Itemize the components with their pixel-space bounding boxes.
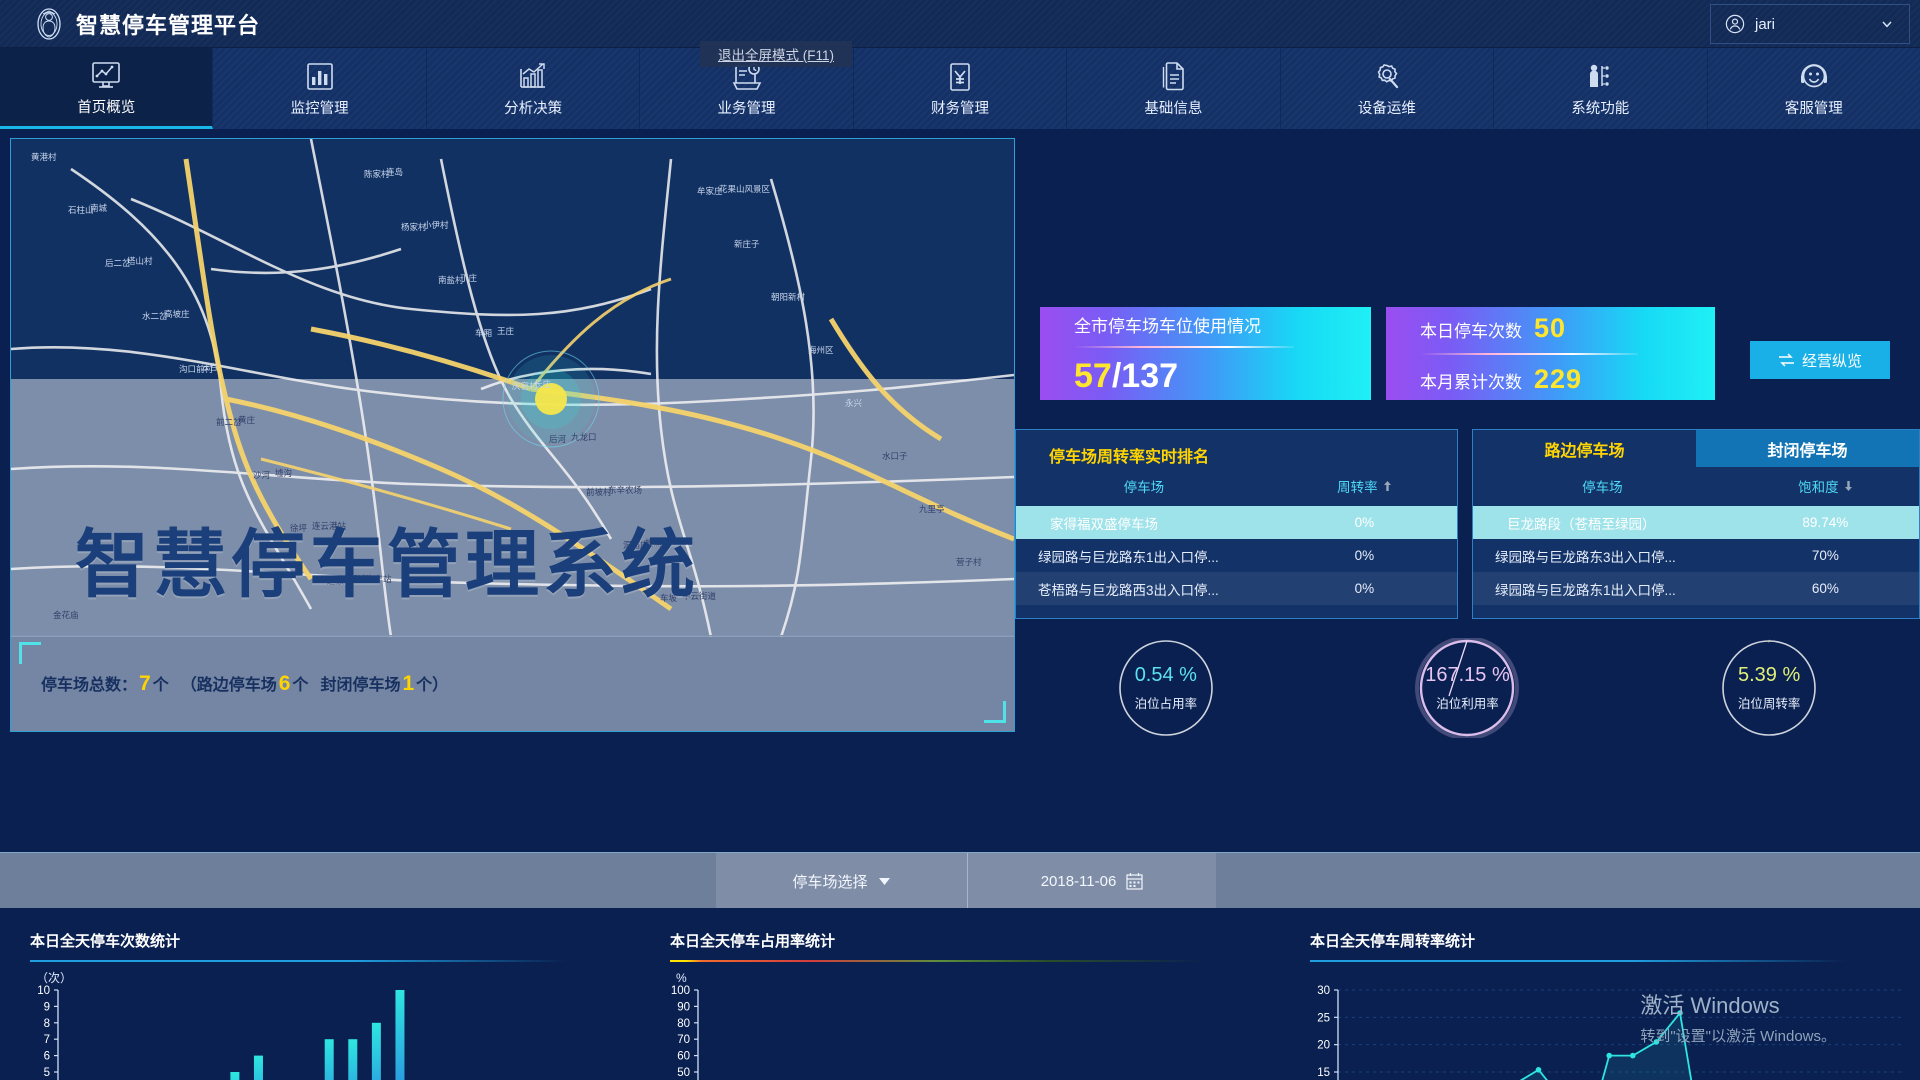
gauge-value: 5.39 % <box>1738 664 1800 687</box>
table-row[interactable]: 巨龙路段（苍梧至绿园）89.74% <box>1473 506 1919 539</box>
nav-item-label: 财务管理 <box>931 97 989 118</box>
map-label: 南城 <box>90 202 107 214</box>
gauge-ring <box>1110 638 1222 738</box>
map-label: 丁庄 <box>460 272 477 284</box>
turnover-col-value[interactable]: 周转率 <box>1272 476 1457 496</box>
brand: 智慧停车管理平台 <box>0 8 260 40</box>
gauge-label: 泊位周转率 <box>1738 693 1801 712</box>
total-unit: 个 <box>153 677 169 694</box>
gauge-1: 0.54 %泊位占用率 <box>1110 638 1222 738</box>
fullscreen-tooltip: 退出全屏模式 (F11) <box>700 41 852 67</box>
nav-item-label: 设备运维 <box>1358 97 1416 118</box>
map-label: 高坡庄 <box>164 308 190 320</box>
chevron-down-icon[interactable] <box>1881 18 1893 30</box>
map-label: 东辛农场 <box>608 484 642 496</box>
kpi-today-value: 50 <box>1534 313 1566 344</box>
svg-text:5: 5 <box>44 1067 50 1079</box>
map-label: 车厢 <box>475 327 492 339</box>
police-badge-icon <box>34 8 64 40</box>
lot-value: 60% <box>1732 581 1919 596</box>
monitor-chart-icon <box>90 58 122 90</box>
gauge-label: 泊位占用率 <box>1135 693 1198 712</box>
lot-name: 家得福双盛停车场 <box>1016 513 1272 533</box>
kpi-card-parking-counts[interactable]: 本日停车次数 50 本月累计次数 229 <box>1386 307 1715 400</box>
total-value: 7 <box>137 672 153 695</box>
lot-value: 0% <box>1272 515 1457 530</box>
map-label: 海州区 <box>808 344 834 356</box>
svg-text:（次）: （次） <box>36 971 72 985</box>
svg-text:6: 6 <box>44 1051 50 1063</box>
user-name: jari <box>1755 16 1775 33</box>
svg-text:60: 60 <box>677 1051 690 1063</box>
svg-text:25: 25 <box>1317 1012 1330 1024</box>
turnover-ranking-title: 停车场周转率实时排名 <box>1016 430 1457 467</box>
lot-value: 0% <box>1272 581 1457 596</box>
person-settings-icon <box>1584 59 1616 91</box>
lot-name: 巨龙路段（苍梧至绿园） <box>1473 513 1732 533</box>
trend-analysis-icon <box>517 59 549 91</box>
date-select[interactable]: 2018-11-06 <box>968 853 1216 909</box>
lot-name: 苍梧路与巨龙路西3出入口停... <box>1016 579 1272 599</box>
table-row[interactable]: 家得福双盛停车场0% <box>1016 506 1457 539</box>
table-row[interactable]: 绿园路与巨龙路东1出入口停...0% <box>1016 539 1457 572</box>
svg-text:90: 90 <box>677 1001 690 1013</box>
table-row[interactable]: 绿园路与巨龙路东3出入口停...70% <box>1473 539 1919 572</box>
caret-down-icon <box>878 877 891 886</box>
chart-svg: 0510152025300123456789101112131415161718… <box>1280 960 1920 1080</box>
turnover-table-body: 家得福双盛停车场0%绿园路与巨龙路东1出入口停...0%苍梧路与巨龙路西3出入口… <box>1016 506 1457 605</box>
map-label: 墟沟 <box>275 467 292 479</box>
user-circle-icon <box>1725 14 1745 34</box>
kpi-card-1-value: 57/137 <box>1074 357 1371 396</box>
kpi-divider-2 <box>1420 353 1638 355</box>
parking-total-summary: 停车场总数：7个（路边停车场6个封闭停车场1个） <box>41 671 448 696</box>
chart-title: 本日全天停车周转率统计 <box>1310 930 1920 951</box>
map-label: 后河 <box>549 433 566 445</box>
lot-value: 70% <box>1732 548 1919 563</box>
map-watermark: 智慧停车管理系统 <box>75 505 975 612</box>
business-overview-label: 经营纵览 <box>1802 350 1862 371</box>
gauge-value: 167.15 % <box>1425 664 1510 687</box>
nav-item-8[interactable]: 系统功能 <box>1494 48 1707 129</box>
map-label: 云台 <box>201 361 218 373</box>
svg-text:20: 20 <box>1317 1040 1330 1052</box>
user-menu-left: jari <box>1725 14 1775 34</box>
corner-decoration-tl <box>19 642 41 664</box>
map-panel[interactable]: 黄港村石柱山后二岔水二岔沟口前村前二岔沙河徐坪赵家村陈家村杨家村南盐村车厢庆窑村… <box>10 138 1015 732</box>
kpi-total: 137 <box>1121 357 1178 395</box>
tab-closed[interactable]: 封闭停车场 <box>1696 430 1919 467</box>
map-label: 王庄 <box>497 325 514 337</box>
svg-text:8: 8 <box>44 1018 50 1030</box>
svg-text:15: 15 <box>1317 1067 1330 1079</box>
exchange-arrows-icon <box>1778 353 1795 367</box>
arrow-down-icon <box>1844 480 1853 492</box>
kpi-divider-1 <box>1074 346 1294 348</box>
kpi-today-row: 本日停车次数 50 <box>1420 313 1715 344</box>
dashboard-root: 智慧停车管理平台 jari 首页概览监控管理分析决策业务管理财务管理基础信息设备… <box>0 0 1920 1080</box>
closed-label: 封闭停车场 <box>320 677 400 694</box>
turnover-col-name: 停车场 <box>1016 476 1272 496</box>
svg-text:80: 80 <box>677 1018 690 1030</box>
arrow-up-icon <box>1383 480 1392 492</box>
svg-text:9: 9 <box>44 1001 50 1013</box>
content-area: 黄港村石柱山后二岔水二岔沟口前村前二岔沙河徐坪赵家村陈家村杨家村南盐村车厢庆窑村… <box>0 129 1920 1080</box>
svg-text:30: 30 <box>1317 985 1330 997</box>
gauge-3: 5.39 %泊位周转率 <box>1713 638 1825 738</box>
map-label: 朝阳新村 <box>771 291 805 303</box>
table-row[interactable]: 绿园路与巨龙路东1出入口停...60% <box>1473 572 1919 605</box>
saturation-col-value[interactable]: 饱和度 <box>1732 476 1919 496</box>
gauge-group: 0.54 %泊位占用率167.15 %泊位利用率5.39 %泊位周转率 <box>1015 639 1920 737</box>
roadside-label: （路边停车场 <box>181 677 277 694</box>
svg-text:70: 70 <box>677 1034 690 1046</box>
svg-text:100: 100 <box>671 985 690 997</box>
nav-item-2[interactable]: 监控管理 <box>213 48 426 129</box>
tab-roadside[interactable]: 路边停车场 <box>1473 430 1696 467</box>
nav-item-label: 首页概览 <box>77 96 135 117</box>
nav-item-label: 业务管理 <box>718 97 776 118</box>
map-label: 新庄子 <box>734 238 760 250</box>
parking-lot-select[interactable]: 停车场选择 <box>716 853 968 909</box>
map-label: 黄庄 <box>238 414 255 426</box>
closed-value: 1 <box>400 672 416 695</box>
map-canvas[interactable]: 黄港村石柱山后二岔水二岔沟口前村前二岔沙河徐坪赵家村陈家村杨家村南盐村车厢庆窑村… <box>11 139 1014 637</box>
kpi-today-label: 本日停车次数 <box>1420 317 1522 342</box>
chart-title: 本日全天停车次数统计 <box>30 930 640 951</box>
map-label: 沙河 <box>253 469 270 481</box>
roadside-unit: 个 <box>292 677 308 694</box>
gauge-ring <box>1411 638 1523 738</box>
total-label: 停车场总数： <box>41 677 137 694</box>
gauge-value: 0.54 % <box>1135 664 1197 687</box>
chart-svg: （次）0123456789100123456789101112131415161… <box>0 960 640 1080</box>
turnover-table-header: 停车场 周转率 <box>1016 467 1457 506</box>
nav-item-label: 基础信息 <box>1144 97 1202 118</box>
parking-type-tabs: 路边停车场封闭停车场 <box>1473 430 1919 467</box>
saturation-table-body: 巨龙路段（苍梧至绿园）89.74%绿园路与巨龙路东3出入口停...70%绿园路与… <box>1473 506 1919 605</box>
headset-smile-icon <box>1798 59 1830 91</box>
brand-title: 智慧停车管理平台 <box>76 8 260 40</box>
nav-item-label: 监控管理 <box>291 97 349 118</box>
lot-value: 0% <box>1272 548 1457 563</box>
parking-lot-select-label: 停车场选择 <box>792 871 867 892</box>
gauge-ring <box>1713 638 1825 738</box>
lot-name: 绿园路与巨龙路东1出入口停... <box>1473 579 1732 599</box>
kpi-card-1-title: 全市停车场车位使用情况 <box>1074 312 1371 337</box>
chart-title: 本日全天停车占用率统计 <box>670 930 1280 951</box>
top-bar: 智慧停车管理平台 jari <box>0 0 1920 48</box>
map-label: 水口子 <box>882 450 908 462</box>
kpi-slash: / <box>1112 357 1121 395</box>
gauge-2: 167.15 %泊位利用率 <box>1411 638 1523 738</box>
nav-item-label: 分析决策 <box>504 97 562 118</box>
turnover-col-value-label: 周转率 <box>1337 476 1378 496</box>
nav-item-1[interactable]: 首页概览 <box>0 48 213 129</box>
nav-item-label: 系统功能 <box>1571 97 1629 118</box>
saturation-ranking-card: 路边停车场封闭停车场 停车场 饱和度 巨龙路段（苍梧至绿园）89.74%绿园路与… <box>1472 429 1920 619</box>
chart-3: 本日全天停车周转率统计05101520253001234567891011121… <box>1280 908 1920 1080</box>
table-row[interactable]: 苍梧路与巨龙路西3出入口停...0% <box>1016 572 1457 605</box>
chart-svg: %010203040506070809010001234567891011121… <box>640 960 1280 1080</box>
saturation-col-value-label: 饱和度 <box>1798 476 1839 496</box>
chart-2: 本日全天停车占用率统计%0102030405060708090100012345… <box>640 908 1280 1080</box>
kpi-card-city-usage[interactable]: 全市停车场车位使用情况 57/137 <box>1040 307 1371 400</box>
map-label: 九龙口 <box>571 431 597 443</box>
kpi-month-value: 229 <box>1534 364 1582 395</box>
kpi-month-row: 本月累计次数 229 <box>1420 364 1715 395</box>
yuan-currency-icon <box>944 59 976 91</box>
nav-item-7[interactable]: 设备运维 <box>1281 48 1494 129</box>
main-nav: 首页概览监控管理分析决策业务管理财务管理基础信息设备运维系统功能客服管理 <box>0 48 1920 129</box>
saturation-col-name: 停车场 <box>1473 476 1732 496</box>
gauge-label: 泊位利用率 <box>1436 693 1499 712</box>
kpi-used: 57 <box>1074 357 1112 395</box>
map-label: 花果山风景区 <box>719 183 770 195</box>
roadside-value: 6 <box>277 672 293 695</box>
lot-name: 绿园路与巨龙路东3出入口停... <box>1473 546 1732 566</box>
svg-text:%: % <box>676 971 687 985</box>
saturation-table-header: 停车场 饱和度 <box>1473 467 1919 506</box>
nav-item-5[interactable]: 财务管理 <box>854 48 1067 129</box>
calendar-icon <box>1126 872 1143 890</box>
nav-item-3[interactable]: 分析决策 <box>427 48 640 129</box>
map-label: 永兴 <box>845 397 862 409</box>
map-label: 黄港村 <box>31 151 57 163</box>
lot-value: 89.74% <box>1732 515 1919 530</box>
svg-text:7: 7 <box>44 1034 50 1046</box>
nav-item-6[interactable]: 基础信息 <box>1067 48 1280 129</box>
charts-row: 本日全天停车次数统计（次）012345678910012345678910111… <box>0 908 1920 1080</box>
turnover-ranking-card: 停车场周转率实时排名 停车场 周转率 家得福双盛停车场0%绿园路与巨龙路东1出入… <box>1015 429 1458 619</box>
svg-text:10: 10 <box>37 985 50 997</box>
map-label: 塔山村 <box>127 255 153 267</box>
user-menu[interactable]: jari <box>1710 4 1910 44</box>
documents-icon <box>1157 59 1189 91</box>
business-overview-button[interactable]: 经营纵览 <box>1750 341 1890 379</box>
filter-bar: 停车场选择 2018-11-06 <box>0 852 1920 908</box>
bar-chart-icon <box>304 59 336 91</box>
map-label: 长庄 <box>534 378 551 390</box>
map-label: 连岛 <box>386 166 403 178</box>
nav-item-label: 客服管理 <box>1785 97 1843 118</box>
svg-text:50: 50 <box>677 1067 690 1079</box>
closed-unit: 个） <box>416 677 448 694</box>
kpi-month-label: 本月累计次数 <box>1420 368 1522 393</box>
lot-name: 绿园路与巨龙路东1出入口停... <box>1016 546 1272 566</box>
nav-item-9[interactable]: 客服管理 <box>1708 48 1920 129</box>
map-footer: 停车场总数：7个（路边停车场6个封闭停车场1个） <box>11 635 1014 731</box>
chart-1: 本日全天停车次数统计（次）012345678910012345678910111… <box>0 908 640 1080</box>
date-select-value: 2018-11-06 <box>1041 873 1117 890</box>
map-label: 小伊村 <box>423 219 449 231</box>
corner-decoration-br <box>984 701 1006 723</box>
gear-wrench-icon <box>1371 59 1403 91</box>
